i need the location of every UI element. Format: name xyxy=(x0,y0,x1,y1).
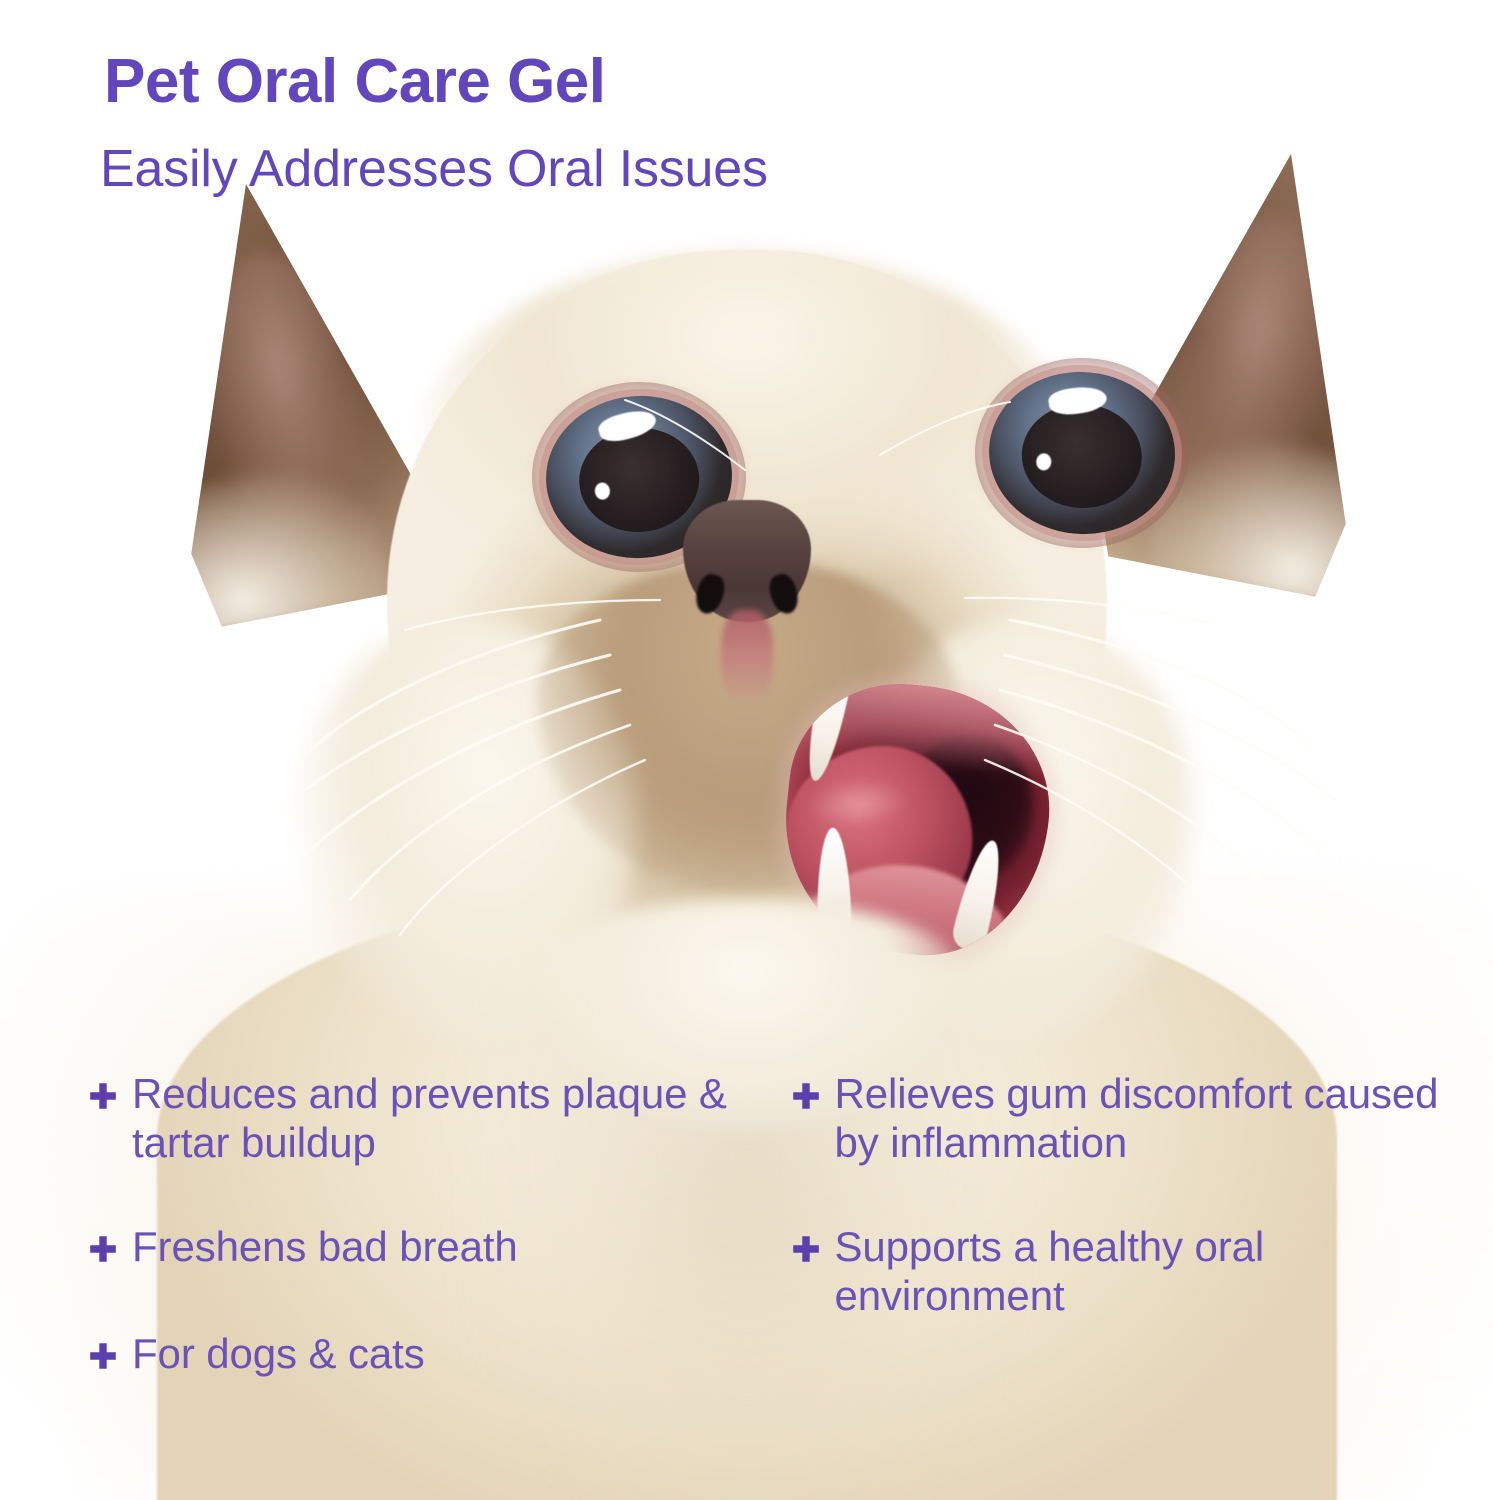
plus-icon xyxy=(791,1081,821,1111)
page-title: Pet Oral Care Gel xyxy=(104,46,606,117)
list-item-label: For dogs & cats xyxy=(132,1330,425,1379)
list-item-label: Freshens bad breath xyxy=(132,1223,518,1272)
tongue-highlight xyxy=(808,778,907,829)
plus-icon xyxy=(88,1341,118,1371)
plus-icon xyxy=(88,1234,118,1264)
benefits-list: Reduces and prevents plaque & tartar bui… xyxy=(88,1070,1493,1429)
plus-icon xyxy=(791,1234,821,1264)
list-item: Relieves gum discomfort caused by inflam… xyxy=(791,1070,1493,1167)
benefits-column-right: Relieves gum discomfort caused by inflam… xyxy=(791,1070,1493,1429)
list-item: Reduces and prevents plaque & tartar bui… xyxy=(88,1070,791,1167)
list-item-label: Reduces and prevents plaque & tartar bui… xyxy=(132,1070,732,1167)
benefits-column-left: Reduces and prevents plaque & tartar bui… xyxy=(88,1070,791,1429)
list-item: For dogs & cats xyxy=(88,1330,791,1379)
product-infographic: Pet Oral Care Gel Easily Addresses Oral … xyxy=(0,0,1493,1500)
cat-nose xyxy=(683,500,811,622)
philtrum xyxy=(721,610,773,702)
list-item-label: Supports a healthy oral environment xyxy=(835,1223,1415,1320)
list-item: Freshens bad breath xyxy=(88,1223,791,1272)
plus-icon xyxy=(88,1081,118,1111)
list-item: Supports a healthy oral environment xyxy=(791,1223,1493,1320)
list-item-label: Relieves gum discomfort caused by inflam… xyxy=(835,1070,1475,1167)
page-subtitle: Easily Addresses Oral Issues xyxy=(100,139,768,199)
pupil-left xyxy=(576,424,703,536)
